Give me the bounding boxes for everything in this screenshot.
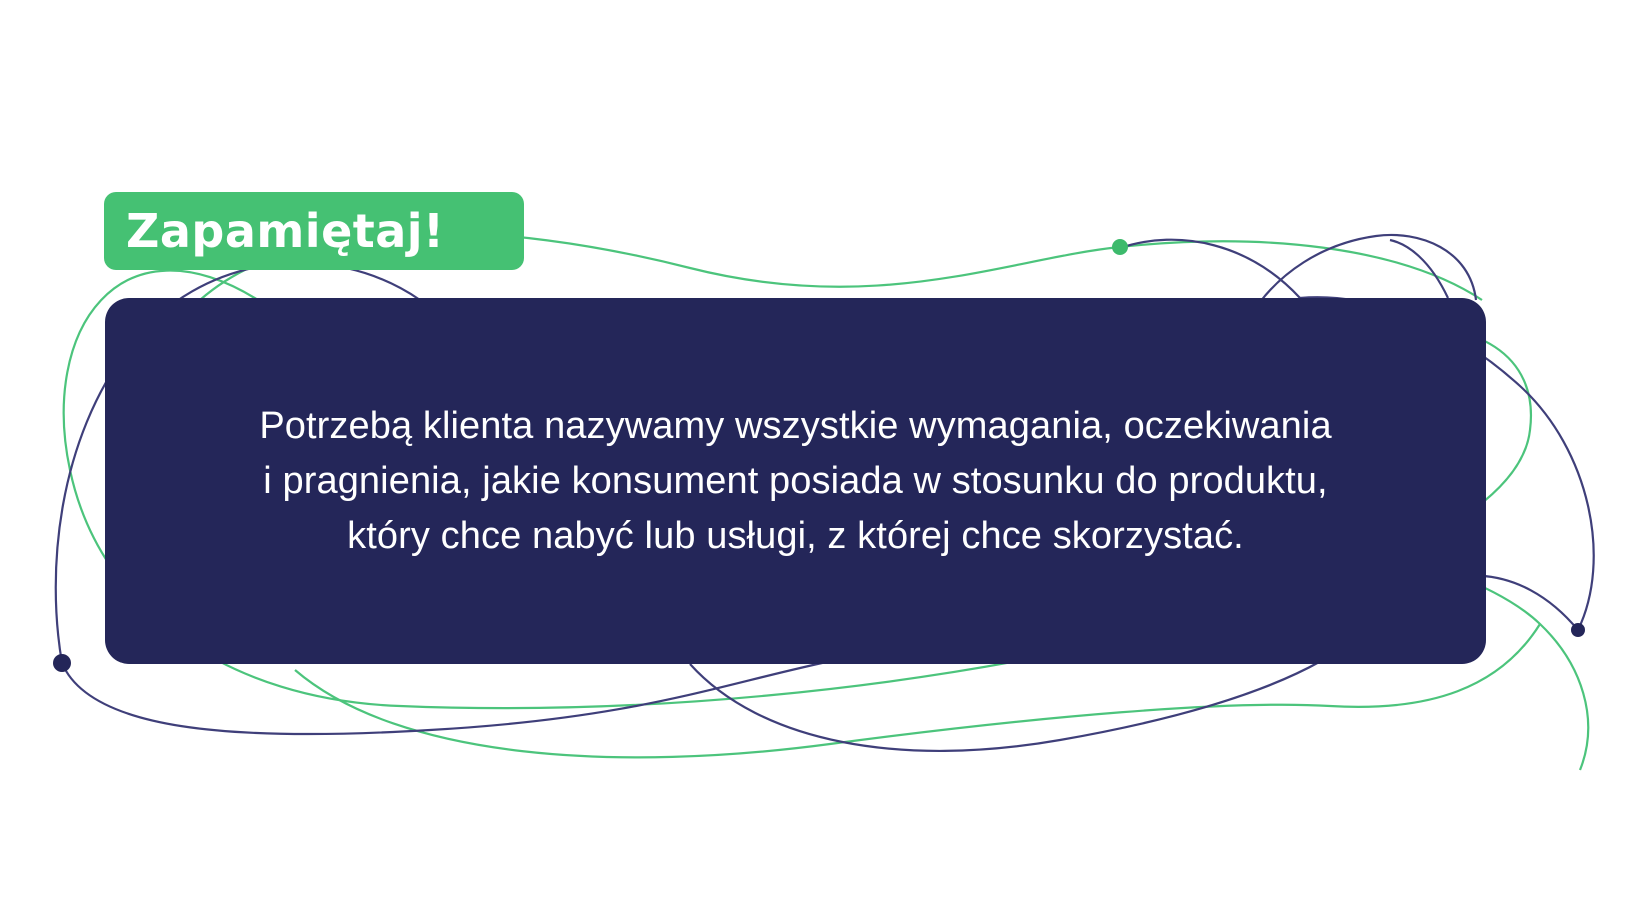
navy-curve-thin-hook	[1390, 240, 1448, 298]
callout-line-3: który chce nabyć lub usługi, z której ch…	[165, 509, 1426, 564]
navy-curve-top-right	[1120, 240, 1300, 298]
navy-curve-arc-top	[1260, 235, 1476, 302]
navy-curve-bottom-left	[62, 660, 836, 734]
callout-card: Potrzebą klienta nazywamy wszystkie wyma…	[105, 298, 1486, 664]
remember-badge-label: Zapamiętaj!	[126, 208, 445, 254]
callout-text: Potrzebą klienta nazywamy wszystkie wyma…	[105, 399, 1486, 564]
remember-badge: Zapamiętaj!	[104, 192, 524, 270]
callout-line-2: i pragnienia, jakie konsument posiada w …	[165, 454, 1426, 509]
navy-dot-right	[1571, 623, 1585, 637]
slide-canvas: Potrzebą klienta nazywamy wszystkie wyma…	[0, 0, 1640, 924]
callout-line-1: Potrzebą klienta nazywamy wszystkie wyma…	[165, 399, 1426, 454]
green-dot-top	[1112, 239, 1128, 255]
navy-dot-left	[53, 654, 71, 672]
